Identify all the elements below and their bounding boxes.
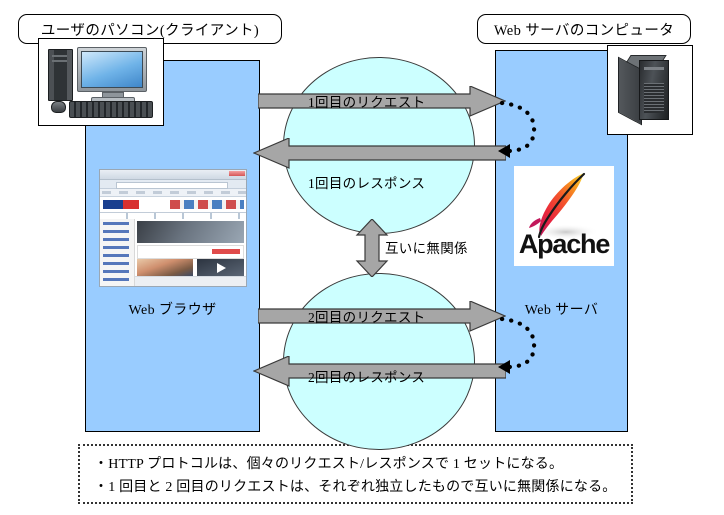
site-main-content: [135, 219, 246, 286]
site-video-thumbnail: [197, 259, 244, 276]
browser-address-bar: [100, 180, 246, 189]
browser-window-screenshot: [99, 169, 247, 287]
monitor-icon: [77, 47, 147, 92]
mutual-independence-label: 互いに無関係: [385, 237, 468, 257]
server-tower-face: [639, 60, 669, 120]
desktop-tower-icon: [48, 49, 73, 101]
caption-server-computer: Web サーバのコンピュータ: [477, 14, 691, 44]
caption-server-text: Web サーバのコンピュータ: [494, 19, 674, 40]
mutual-independence-arrow: [355, 219, 389, 277]
browser-titlebar: [100, 170, 246, 180]
summary-note-box: ・HTTP プロトコルは、個々のリクエスト/レスポンスで 1 セットになる。 ・…: [78, 444, 633, 504]
apache-logo: Apache: [514, 166, 614, 266]
server-computer-photo: [607, 45, 693, 135]
server-turnaround-2-icon: [498, 312, 544, 374]
mouse-icon: [51, 101, 66, 113]
apache-wordmark: Apache: [514, 229, 614, 260]
site-sidebar: [100, 219, 135, 286]
summary-note-line-2: ・1 回目と 2 回目のリクエストは、それぞれ独立したもので互いに無関係になる。: [94, 476, 617, 499]
server-turnaround-1-icon: [498, 96, 544, 158]
browser-bookmarks-bar: [100, 189, 246, 197]
response-1-label: 1回目のレスポンス: [308, 172, 425, 192]
client-computer-photo: [38, 38, 164, 126]
caption-client-text: ユーザのパソコン(クライアント): [41, 19, 259, 40]
site-promo-strip: [137, 245, 244, 259]
site-footer: [135, 276, 246, 286]
request-1-label: 1回目のリクエスト: [308, 91, 425, 111]
site-photo: [137, 259, 193, 276]
monitor-screen: [81, 51, 143, 88]
request-2-label: 2回目のリクエスト: [308, 306, 425, 326]
diagram-canvas: ユーザのパソコン(クライアント) Web サーバのコンピュータ Web: [0, 0, 724, 515]
keyboard-icon: [69, 101, 153, 118]
server-tower-icon: [618, 55, 682, 125]
summary-note-line-1: ・HTTP プロトコルは、個々のリクエスト/レスポンスで 1 セットになる。: [94, 453, 617, 476]
client-panel-label: Web ブラウザ: [86, 299, 259, 319]
site-hero-banner: [137, 221, 244, 243]
response-2-label: 2回目のレスポンス: [308, 366, 425, 386]
response-1-arrow: [253, 138, 506, 170]
site-logo-banner: [100, 197, 246, 212]
site-body: [100, 219, 246, 286]
